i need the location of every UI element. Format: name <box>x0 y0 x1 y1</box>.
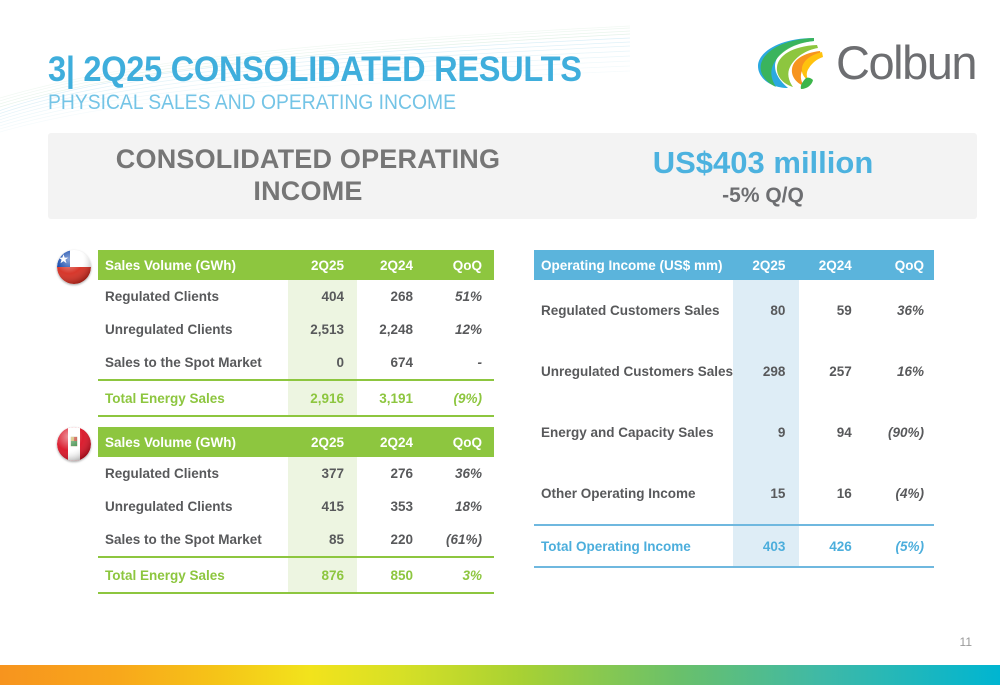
logo-wordmark: Colbun <box>836 39 976 86</box>
row-q24: 257 <box>799 341 865 402</box>
row-q25: 415 <box>288 490 357 523</box>
row-qoq: 16% <box>866 341 934 402</box>
colbun-logo-icon <box>754 32 832 92</box>
row-q25: 9 <box>733 402 799 463</box>
total-label: Total Operating Income <box>534 525 733 567</box>
banner-metric: US$403 million -5% Q/Q <box>568 145 958 209</box>
total-qoq: (9%) <box>426 380 494 416</box>
page-subtitle: PHYSICAL SALES AND OPERATING INCOME <box>48 91 576 115</box>
table-row: Sales to the Spot Market 85 220 (61%) <box>98 523 494 557</box>
row-q24: 268 <box>357 280 426 313</box>
banner-delta: -5% Q/Q <box>568 183 958 209</box>
summary-banner: CONSOLIDATED OPERATING INCOME US$403 mil… <box>48 133 977 219</box>
table-row: Energy and Capacity Sales 9 94 (90%) <box>534 402 934 463</box>
row-qoq: 51% <box>426 280 494 313</box>
total-qoq: (5%) <box>866 525 934 567</box>
row-label: Sales to the Spot Market <box>98 346 288 380</box>
total-q25: 2,916 <box>288 380 357 416</box>
row-q24: 276 <box>357 457 426 490</box>
row-q25: 377 <box>288 457 357 490</box>
row-q25: 2,513 <box>288 313 357 346</box>
row-q24: 59 <box>799 280 865 341</box>
row-q25: 298 <box>733 341 799 402</box>
table-row: Regulated Customers Sales 80 59 36% <box>534 280 934 341</box>
table-row: Regulated Clients 404 268 51% <box>98 280 494 313</box>
total-q25: 403 <box>733 525 799 567</box>
row-q25: 80 <box>733 280 799 341</box>
total-label: Total Energy Sales <box>98 557 288 593</box>
banner-value: US$403 million <box>568 145 958 181</box>
row-qoq: (61%) <box>426 523 494 557</box>
row-label: Other Operating Income <box>534 463 733 525</box>
row-qoq: 36% <box>866 280 934 341</box>
col-header-q24: 2Q24 <box>357 250 426 280</box>
chile-flag-icon <box>57 250 91 284</box>
chile-sales-table: Sales Volume (GWh) 2Q25 2Q24 QoQ Regulat… <box>98 250 494 417</box>
col-header-label: Sales Volume (GWh) <box>98 250 288 280</box>
row-label: Regulated Customers Sales <box>534 280 733 341</box>
row-label: Energy and Capacity Sales <box>534 402 733 463</box>
row-label: Sales to the Spot Market <box>98 523 288 557</box>
row-label: Unregulated Clients <box>98 490 288 523</box>
row-qoq: 18% <box>426 490 494 523</box>
row-q24: 674 <box>357 346 426 380</box>
col-header-q24: 2Q24 <box>357 427 426 457</box>
header-title-block: 3| 2Q25 CONSOLIDATED RESULTS PHYSICAL SA… <box>48 52 622 115</box>
table-row: Sales to the Spot Market 0 674 - <box>98 346 494 380</box>
table-row: Unregulated Clients 415 353 18% <box>98 490 494 523</box>
row-q24: 2,248 <box>357 313 426 346</box>
table-header-row: Sales Volume (GWh) 2Q25 2Q24 QoQ <box>98 250 494 280</box>
col-header-qoq: QoQ <box>426 427 494 457</box>
total-label: Total Energy Sales <box>98 380 288 416</box>
peru-flag-icon <box>57 427 91 461</box>
total-q24: 426 <box>799 525 865 567</box>
row-q24: 94 <box>799 402 865 463</box>
row-qoq: (4%) <box>866 463 934 525</box>
col-header-label: Operating Income (US$ mm) <box>534 250 733 280</box>
row-label: Regulated Clients <box>98 457 288 490</box>
row-q24: 16 <box>799 463 865 525</box>
col-header-qoq: QoQ <box>426 250 494 280</box>
row-qoq: 12% <box>426 313 494 346</box>
operating-income-table: Operating Income (US$ mm) 2Q25 2Q24 QoQ … <box>534 250 934 568</box>
colbun-logo: Colbun <box>754 32 976 92</box>
col-header-q25: 2Q25 <box>288 250 357 280</box>
table-total-row: Total Operating Income 403 426 (5%) <box>534 525 934 567</box>
page-number: 11 <box>960 635 972 649</box>
col-header-label: Sales Volume (GWh) <box>98 427 288 457</box>
table-total-row: Total Energy Sales 2,916 3,191 (9%) <box>98 380 494 416</box>
row-qoq: 36% <box>426 457 494 490</box>
footer-gradient-bar <box>0 665 1000 685</box>
col-header-q25: 2Q25 <box>288 427 357 457</box>
col-header-q25: 2Q25 <box>733 250 799 280</box>
row-q25: 85 <box>288 523 357 557</box>
col-header-q24: 2Q24 <box>799 250 865 280</box>
total-q24: 850 <box>357 557 426 593</box>
table-row: Other Operating Income 15 16 (4%) <box>534 463 934 525</box>
peru-sales-table: Sales Volume (GWh) 2Q25 2Q24 QoQ Regulat… <box>98 427 494 594</box>
row-label: Unregulated Customers Sales <box>534 341 733 402</box>
row-q25: 404 <box>288 280 357 313</box>
table-row: Regulated Clients 377 276 36% <box>98 457 494 490</box>
total-q24: 3,191 <box>357 380 426 416</box>
row-qoq: - <box>426 346 494 380</box>
page-title: 3| 2Q25 CONSOLIDATED RESULTS <box>48 52 582 88</box>
row-qoq: (90%) <box>866 402 934 463</box>
table-header-row: Sales Volume (GWh) 2Q25 2Q24 QoQ <box>98 427 494 457</box>
row-q25: 15 <box>733 463 799 525</box>
row-q25: 0 <box>288 346 357 380</box>
table-header-row: Operating Income (US$ mm) 2Q25 2Q24 QoQ <box>534 250 934 280</box>
row-label: Regulated Clients <box>98 280 288 313</box>
slide-canvas: 3| 2Q25 CONSOLIDATED RESULTS PHYSICAL SA… <box>0 0 1000 685</box>
col-header-qoq: QoQ <box>866 250 934 280</box>
table-total-row: Total Energy Sales 876 850 3% <box>98 557 494 593</box>
row-label: Unregulated Clients <box>98 313 288 346</box>
table-row: Unregulated Clients 2,513 2,248 12% <box>98 313 494 346</box>
table-row: Unregulated Customers Sales 298 257 16% <box>534 341 934 402</box>
banner-heading: CONSOLIDATED OPERATING INCOME <box>78 143 538 207</box>
total-qoq: 3% <box>426 557 494 593</box>
row-q24: 353 <box>357 490 426 523</box>
total-q25: 876 <box>288 557 357 593</box>
row-q24: 220 <box>357 523 426 557</box>
